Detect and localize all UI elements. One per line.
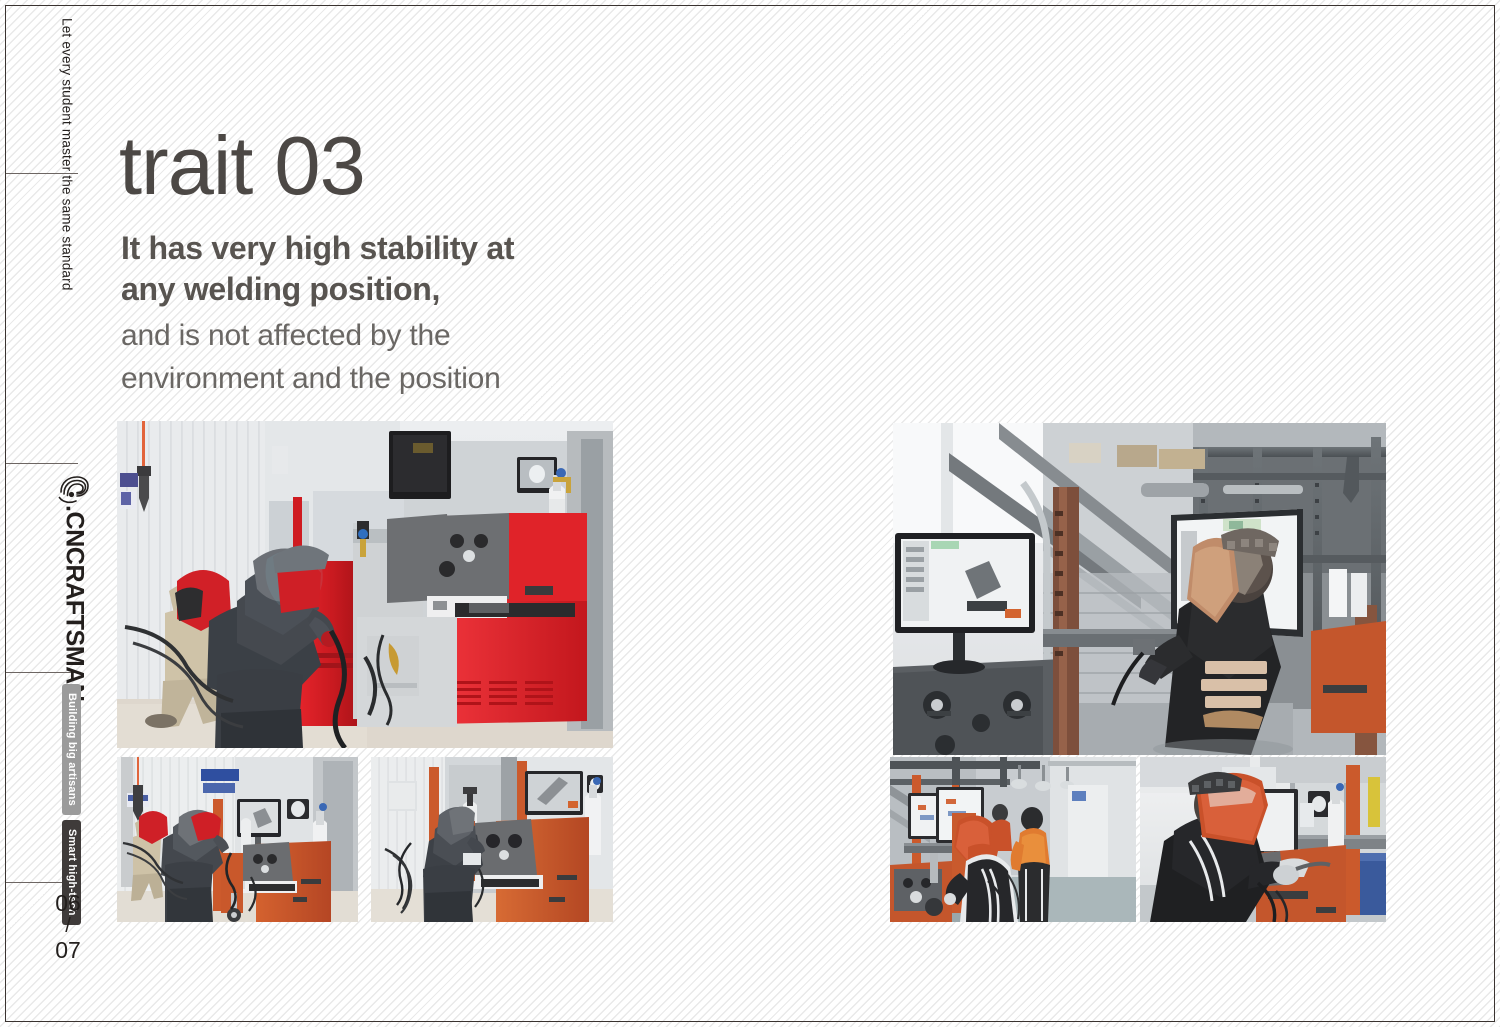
photo-welding-lab-close (371, 757, 613, 922)
headline-light-line-2: environment and the position (121, 358, 681, 401)
brand-name: .CNCRAFTSMAN (62, 505, 87, 702)
headline-strong-line-1: It has very high stability at (121, 228, 681, 269)
page-number-current: 06 (55, 890, 81, 916)
headline-light-line-1: and is not affected by the (121, 315, 681, 358)
photo-welding-lab-wide (117, 757, 358, 922)
page-eyebrow-title: trait 03 (119, 128, 365, 204)
spiral-swirl-logo-icon (57, 474, 91, 504)
page-number-separator: / (40, 915, 96, 939)
page-number-total: 07 (55, 937, 81, 963)
photo-welding-lab-main (117, 421, 613, 748)
brochure-page: Let every student master the same standa… (0, 0, 1500, 1027)
headline-strong: It has very high stability at any weldin… (121, 228, 681, 310)
chip-building-big-artisans: Building big artisans (62, 684, 81, 815)
brand-lockup: .CNCRAFTSMAN (50, 474, 98, 702)
sidebar-tagline: Let every student master the same standa… (60, 18, 74, 291)
headline-light: and is not affected by the environment a… (121, 315, 681, 400)
photo-factory-group (890, 757, 1136, 922)
sidebar-chip-group: Building big artisans Smart high-tech (62, 684, 81, 925)
sidebar: Let every student master the same standa… (6, 6, 102, 1021)
sidebar-divider-2 (6, 463, 78, 464)
photo-factory-hall-main (893, 423, 1386, 755)
photo-factory-student (1140, 757, 1386, 922)
headline-strong-line-2: any welding position, (121, 269, 681, 310)
page-number: 06 / 07 (40, 890, 96, 964)
